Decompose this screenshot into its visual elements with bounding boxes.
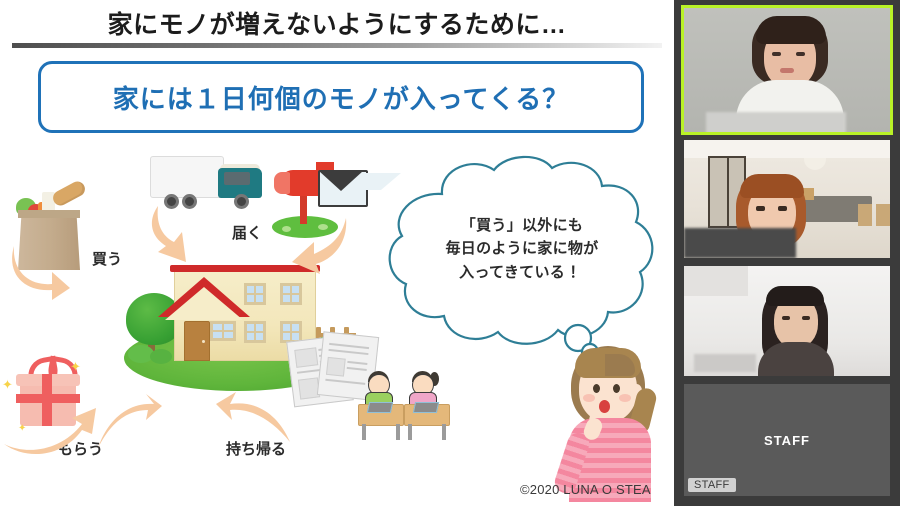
arrow-up-right-to-house bbox=[212, 390, 292, 446]
thinking-woman-illustration bbox=[555, 340, 665, 500]
thought-bubble: 「買う」以外にも 毎日のように家に物が 入ってきている ！ bbox=[382, 152, 662, 362]
copyright-notice: ©2020 LUNA O STEA bbox=[520, 482, 651, 497]
shared-screen-area[interactable]: 家にモノが増えないようにするために… 家には１日何個のモノが入ってくる？ 買う bbox=[0, 0, 674, 506]
participant-name-tag: STAFF bbox=[688, 478, 736, 492]
envelope-icon bbox=[318, 170, 368, 207]
participant-video-rail[interactable]: STAFF STAFF bbox=[674, 0, 900, 506]
children-at-desks-icon bbox=[358, 370, 454, 442]
question-box: 家には１日何個のモノが入ってくる？ bbox=[38, 61, 644, 133]
arrow-mailbox-to-house bbox=[290, 216, 352, 278]
thought-line-3: 入ってきている ！ bbox=[412, 261, 632, 284]
arrow-up-left-to-house bbox=[96, 392, 164, 450]
video-tile-participant-4[interactable]: STAFF STAFF bbox=[684, 384, 890, 496]
slide-title: 家にモノが増えないようにするために… bbox=[0, 4, 674, 42]
arrow-receive-to-house bbox=[2, 400, 98, 456]
presentation-slide: 家にモノが増えないようにするために… 家には１日何個のモノが入ってくる？ 買う bbox=[0, 0, 674, 506]
video-tile-participant-3[interactable] bbox=[684, 266, 890, 376]
video-tile-participant-1[interactable] bbox=[684, 8, 890, 132]
thought-line-1: 「買う」以外にも bbox=[412, 214, 632, 237]
title-underline bbox=[12, 43, 662, 48]
arrow-buy-to-house bbox=[8, 242, 72, 302]
thought-bubble-text: 「買う」以外にも 毎日のように家に物が 入ってきている ！ bbox=[412, 214, 632, 284]
flow-label-delivered: 届く bbox=[232, 222, 262, 243]
flow-diagram: 買う bbox=[0, 132, 674, 506]
thought-line-2: 毎日のように家に物が bbox=[412, 237, 632, 260]
video-tile-participant-2[interactable] bbox=[684, 140, 890, 258]
zoom-meeting-window: 家にモノが増えないようにするために… 家には１日何個のモノが入ってくる？ 買う bbox=[0, 0, 900, 506]
arrow-truck-to-house bbox=[148, 206, 196, 268]
question-text: 家には１日何個のモノが入ってくる？ bbox=[113, 79, 569, 116]
